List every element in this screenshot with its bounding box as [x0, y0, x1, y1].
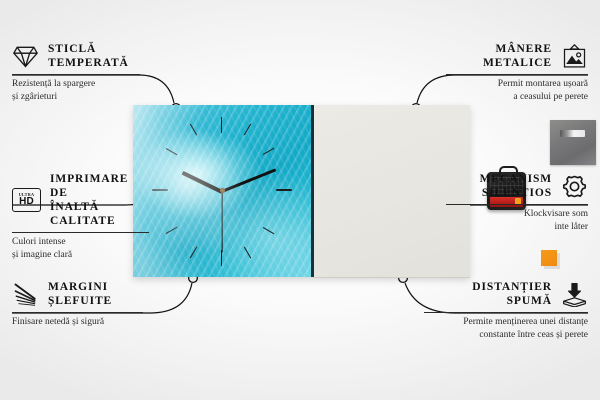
feature-title: STICLĂ TEMPERATĂ — [48, 42, 129, 70]
feature-title: IMPRIMARE DE ÎNALTĂ CALITATE — [50, 172, 149, 228]
picture-frame-icon — [561, 44, 588, 69]
feature-divider — [424, 312, 588, 313]
feature-subtitle: Rezistență la spargere și zgârieturi — [12, 78, 140, 103]
feature-foam-spacer: DISTANȚIER SPUMĂ Permite menținerea unei… — [424, 280, 588, 341]
feature-header: STICLĂ TEMPERATĂ — [12, 42, 140, 70]
feature-header: DISTANȚIER SPUMĂ — [424, 280, 588, 308]
infographic-canvas: STICLĂ TEMPERATĂ Rezistență la spargere … — [0, 0, 600, 400]
hour-marker — [166, 148, 178, 156]
hour-marker — [221, 250, 222, 266]
metal-hanger-plate — [550, 120, 596, 165]
feature-header: MECANISM SILENȚIOS — [446, 172, 588, 200]
polished-edges-icon — [12, 282, 39, 307]
hour-marker — [263, 148, 275, 156]
feature-subtitle: Finisare netedă și sigură — [12, 316, 143, 329]
press-down-icon — [561, 282, 588, 307]
feature-title: DISTANȚIER SPUMĂ — [472, 280, 552, 308]
feature-title: MÂNERE METALICE — [483, 42, 552, 70]
hanger-slot — [560, 130, 585, 137]
hour-marker — [221, 117, 222, 133]
hour-marker — [244, 247, 252, 259]
feature-divider — [446, 74, 588, 75]
hour-marker — [190, 247, 198, 259]
diamond-icon — [12, 44, 39, 69]
feature-subtitle: Culori intense și imagine clară — [12, 236, 149, 261]
feature-title: MARGINI ȘLEFUITE — [48, 280, 112, 308]
feature-divider — [446, 204, 588, 205]
hour-hand — [182, 171, 223, 194]
hands-center-cap — [220, 188, 225, 193]
feature-high-quality-print: ultra HD IMPRIMARE DE ÎNALTĂ CALITATE Cu… — [12, 172, 149, 261]
feature-header: ultra HD IMPRIMARE DE ÎNALTĂ CALITATE — [12, 172, 149, 228]
ultra-hd-main-text: HD — [19, 197, 34, 207]
hour-marker — [244, 124, 252, 136]
feature-title: MECANISM SILENȚIOS — [480, 172, 552, 200]
hour-marker — [190, 124, 198, 136]
clock-front-panel — [133, 105, 314, 277]
minute-hand — [221, 168, 276, 193]
hour-marker — [276, 189, 292, 191]
hour-marker — [152, 189, 168, 191]
feature-header: MÂNERE METALICE — [446, 42, 588, 70]
feature-subtitle: Permit montarea ușoară a ceasului pe per… — [446, 78, 588, 103]
feature-polished-edges: MARGINI ȘLEFUITE Finisare netedă și sigu… — [12, 280, 143, 329]
feature-divider — [12, 312, 143, 313]
ultra-hd-icon: ultra HD — [12, 188, 41, 212]
feature-header: MARGINI ȘLEFUITE — [12, 280, 143, 308]
feature-divider — [12, 232, 149, 233]
hour-marker — [166, 227, 178, 235]
gear-icon — [561, 174, 588, 199]
feature-silent-mechanism: MECANISM SILENȚIOS Klockvisare som inte … — [446, 172, 588, 233]
hour-marker — [263, 227, 275, 235]
feature-metal-handles: MÂNERE METALICE Permit montarea ușoară a… — [446, 42, 588, 103]
feature-divider — [12, 74, 140, 75]
feature-tempered-glass: STICLĂ TEMPERATĂ Rezistență la spargere … — [12, 42, 140, 103]
product-photo — [133, 105, 470, 277]
second-hand — [221, 191, 222, 253]
feature-subtitle: Permite menținerea unei distanțe constan… — [424, 316, 588, 341]
foam-spacer — [541, 250, 557, 266]
feature-subtitle: Klockvisare som inte låter — [446, 208, 588, 233]
